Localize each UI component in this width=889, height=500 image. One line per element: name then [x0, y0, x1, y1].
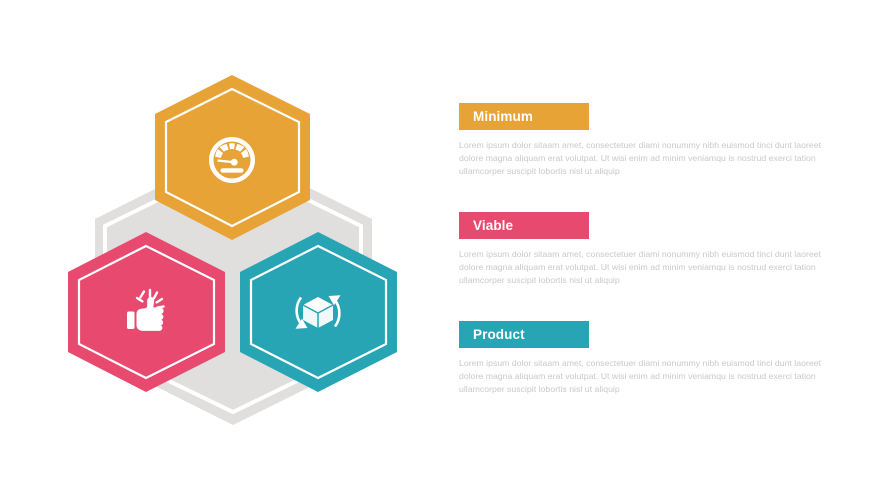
entry-label-viable[interactable]: Viable — [459, 212, 589, 239]
entry-viable: Viable Lorem ipsum dolor sitaam amet, co… — [459, 212, 831, 288]
speedometer-gauge-icon — [209, 137, 255, 183]
entry-body-minimum: Lorem ipsum dolor sitaam amet, consectet… — [459, 139, 825, 179]
entry-label-product[interactable]: Product — [459, 321, 589, 348]
hexagon-cluster-svg — [0, 0, 440, 500]
hexagon-cluster-diagram — [0, 0, 440, 500]
entry-product: Product Lorem ipsum dolor sitaam amet, c… — [459, 321, 831, 397]
text-column: Minimum Lorem ipsum dolor sitaam amet, c… — [459, 0, 859, 500]
entry-minimum: Minimum Lorem ipsum dolor sitaam amet, c… — [459, 103, 831, 179]
infographic-slide: Minimum Lorem ipsum dolor sitaam amet, c… — [0, 0, 889, 500]
entry-body-product: Lorem ipsum dolor sitaam amet, consectet… — [459, 357, 825, 397]
entry-body-viable: Lorem ipsum dolor sitaam amet, consectet… — [459, 248, 825, 288]
entry-label-minimum[interactable]: Minimum — [459, 103, 589, 130]
